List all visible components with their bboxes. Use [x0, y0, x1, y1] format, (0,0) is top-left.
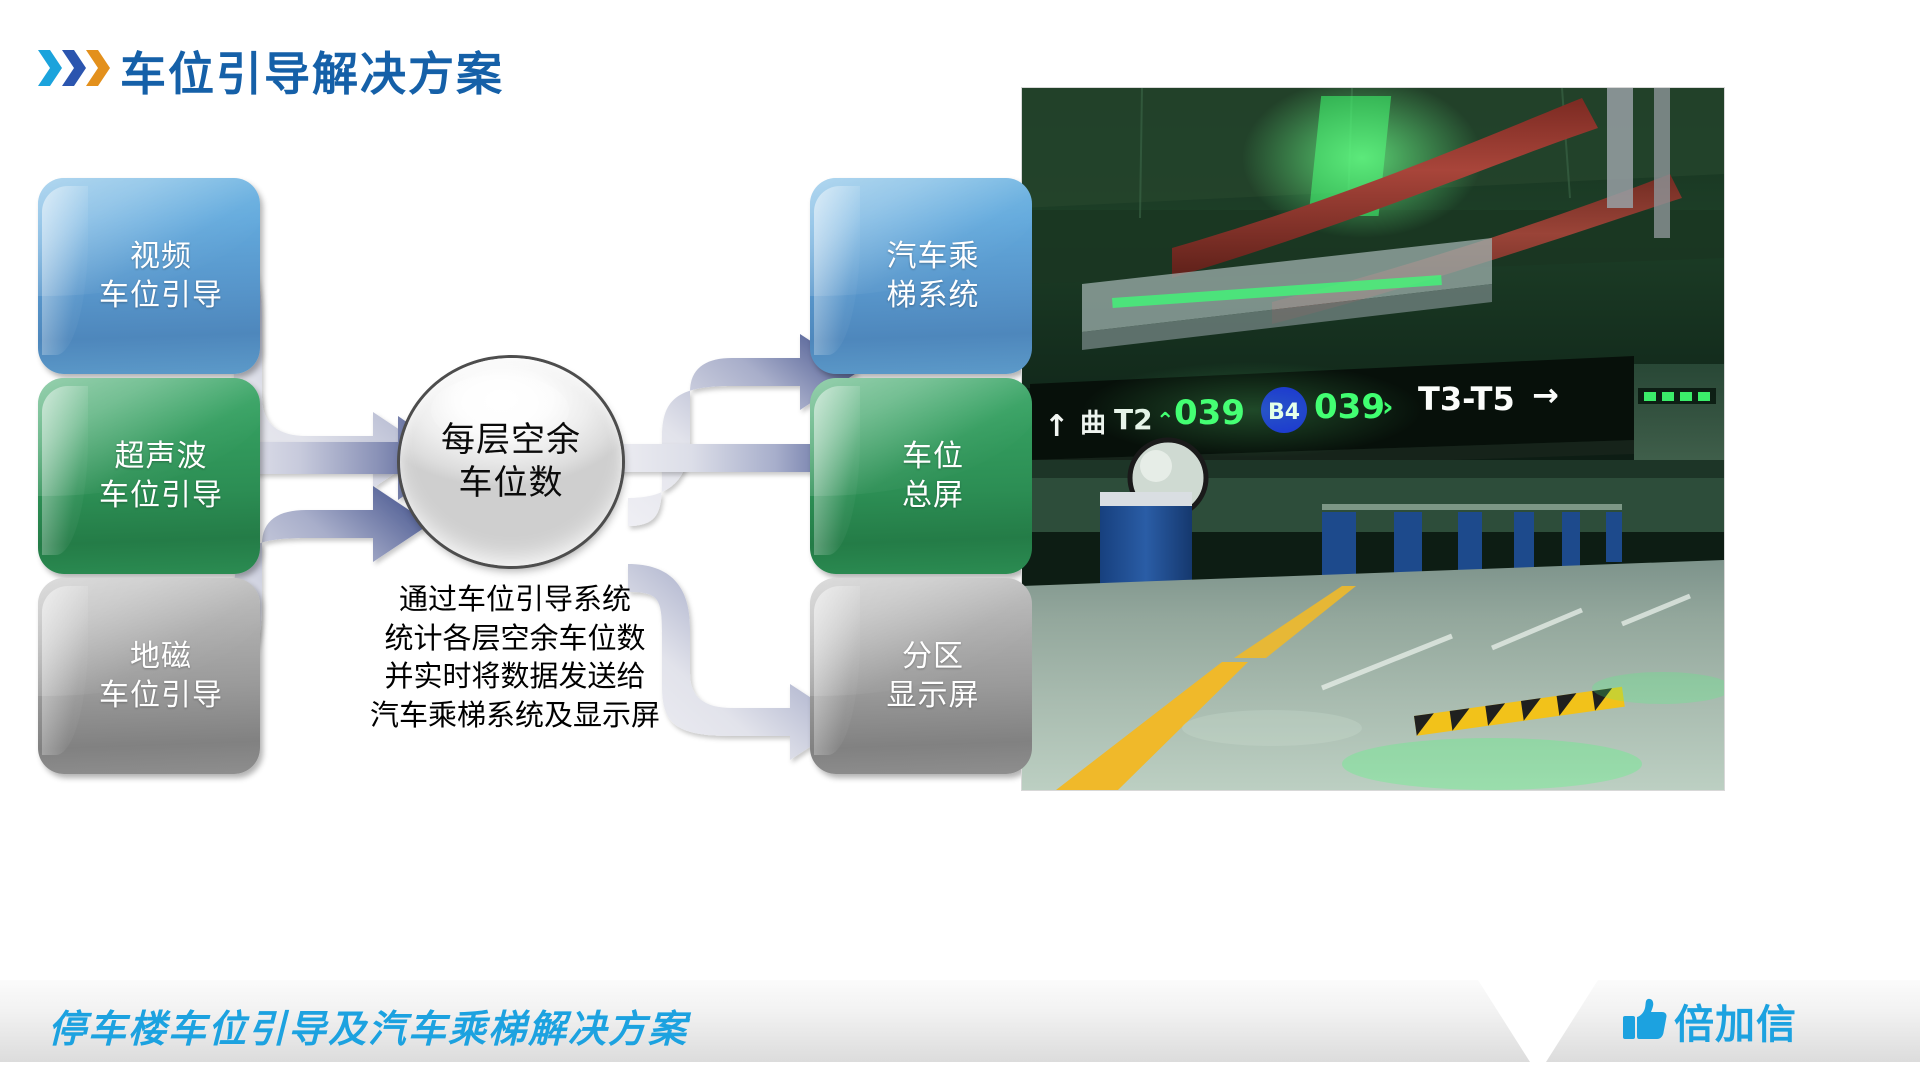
label-line-2: 显示屏 [887, 676, 980, 715]
label-line-2: 总屏 [902, 476, 964, 515]
output-box-total-screen-label: 车位 总屏 [878, 437, 964, 515]
caption-line-2: 统计各层空余车位数 [270, 619, 760, 658]
chevron-3-icon [86, 50, 110, 86]
svg-text:↑: ↑ [1044, 409, 1069, 444]
output-box-zone-screen[interactable]: 分区 显示屏 [810, 578, 1032, 774]
caption-line-1: 通过车位引导系统 [270, 580, 760, 619]
parking-garage-photo: ↑ 曲 T2 ⌃ 039 B4 039 › T3-T5 → [1022, 88, 1724, 790]
output-box-elevator-label: 汽车乘 梯系统 [863, 237, 980, 315]
hub-sphere[interactable]: 每层空余 车位数 [400, 358, 622, 566]
label-line-1: 分区 [887, 637, 980, 676]
caption-line-4: 汽车乘梯系统及显示屏 [270, 696, 760, 735]
label-line-2: 车位引导 [99, 276, 223, 315]
input-box-ultrasonic[interactable]: 超声波 车位引导 [38, 378, 260, 574]
hub-line-2: 车位数 [441, 462, 581, 505]
brand-logo: 倍加信 [1622, 992, 1797, 1050]
output-box-zone-screen-label: 分区 显示屏 [863, 637, 980, 715]
label-line-2: 车位引导 [99, 676, 223, 715]
thumbs-up-icon [1622, 997, 1668, 1046]
brand-name: 倍加信 [1674, 992, 1797, 1050]
input-box-geomagnetic-label: 地磁 车位引导 [75, 637, 223, 715]
input-box-ultrasonic-label: 超声波 车位引导 [75, 437, 223, 515]
label-line-1: 超声波 [99, 437, 223, 476]
page-footer: 停车楼车位引导及汽车乘梯解决方案 倍加信 [0, 962, 1920, 1080]
label-line-1: 地磁 [99, 637, 223, 676]
label-line-2: 梯系统 [887, 276, 980, 315]
chevron-logo [36, 46, 114, 90]
output-box-total-screen[interactable]: 车位 总屏 [810, 378, 1032, 574]
input-box-geomagnetic[interactable]: 地磁 车位引导 [38, 578, 260, 774]
caption-line-3: 并实时将数据发送给 [270, 657, 760, 696]
chevron-1-icon [38, 50, 62, 86]
label-line-1: 汽车乘 [887, 237, 980, 276]
diagram-caption: 通过车位引导系统 统计各层空余车位数 并实时将数据发送给 汽车乘梯系统及显示屏 [270, 580, 760, 734]
input-box-video-label: 视频 车位引导 [75, 237, 223, 315]
page-title: 车位引导解决方案 [120, 38, 504, 104]
output-box-elevator[interactable]: 汽车乘 梯系统 [810, 178, 1032, 374]
input-box-video[interactable]: 视频 车位引导 [38, 178, 260, 374]
svg-text:→: → [1532, 376, 1559, 414]
label-line-1: 车位 [902, 437, 964, 476]
label-line-2: 车位引导 [99, 476, 223, 515]
svg-text:T3-T5: T3-T5 [1418, 380, 1515, 418]
footer-title: 停车楼车位引导及汽车乘梯解决方案 [48, 998, 688, 1053]
chevron-2-icon [62, 50, 86, 86]
label-line-1: 视频 [99, 237, 223, 276]
hub-sphere-label: 每层空余 车位数 [441, 419, 581, 505]
hub-line-1: 每层空余 [441, 419, 581, 462]
